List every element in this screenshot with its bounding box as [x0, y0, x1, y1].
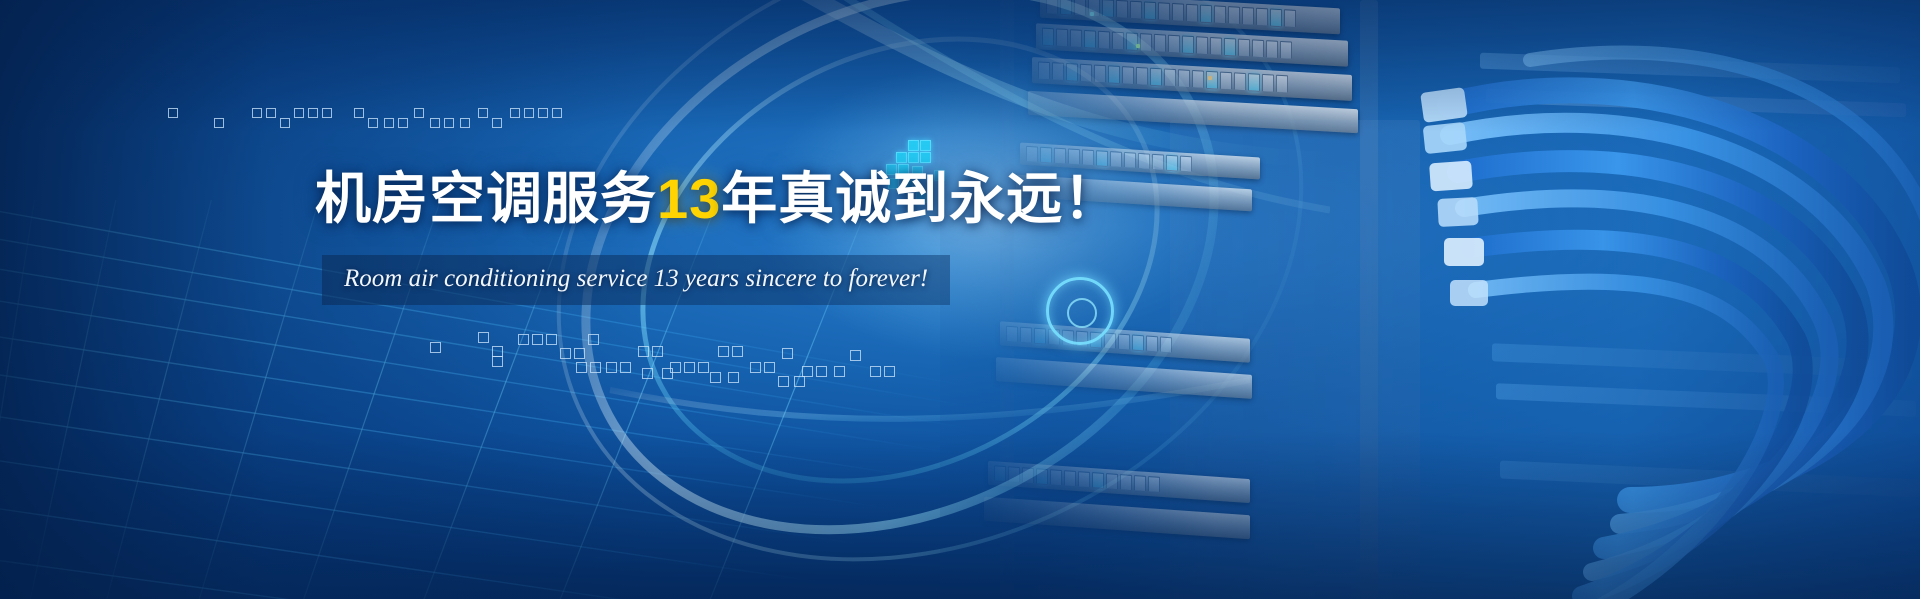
subtitle: Room air conditioning service 13 years s… — [344, 264, 928, 294]
subtitle-bar: Room air conditioning service 13 years s… — [322, 255, 950, 305]
headline-suffix: 年真诚到永远！ — [721, 167, 1120, 230]
headline: 机房空调服务13年真诚到永远！ — [315, 168, 1120, 230]
banner-copy: 机房空调服务13年真诚到永远！ Room air conditioning se… — [0, 0, 1920, 599]
headline-prefix: 机房空调服务 — [315, 167, 657, 230]
hero-banner: 机房空调服务13年真诚到永远！ Room air conditioning se… — [0, 0, 1920, 599]
headline-highlight-number: 13 — [657, 167, 721, 230]
